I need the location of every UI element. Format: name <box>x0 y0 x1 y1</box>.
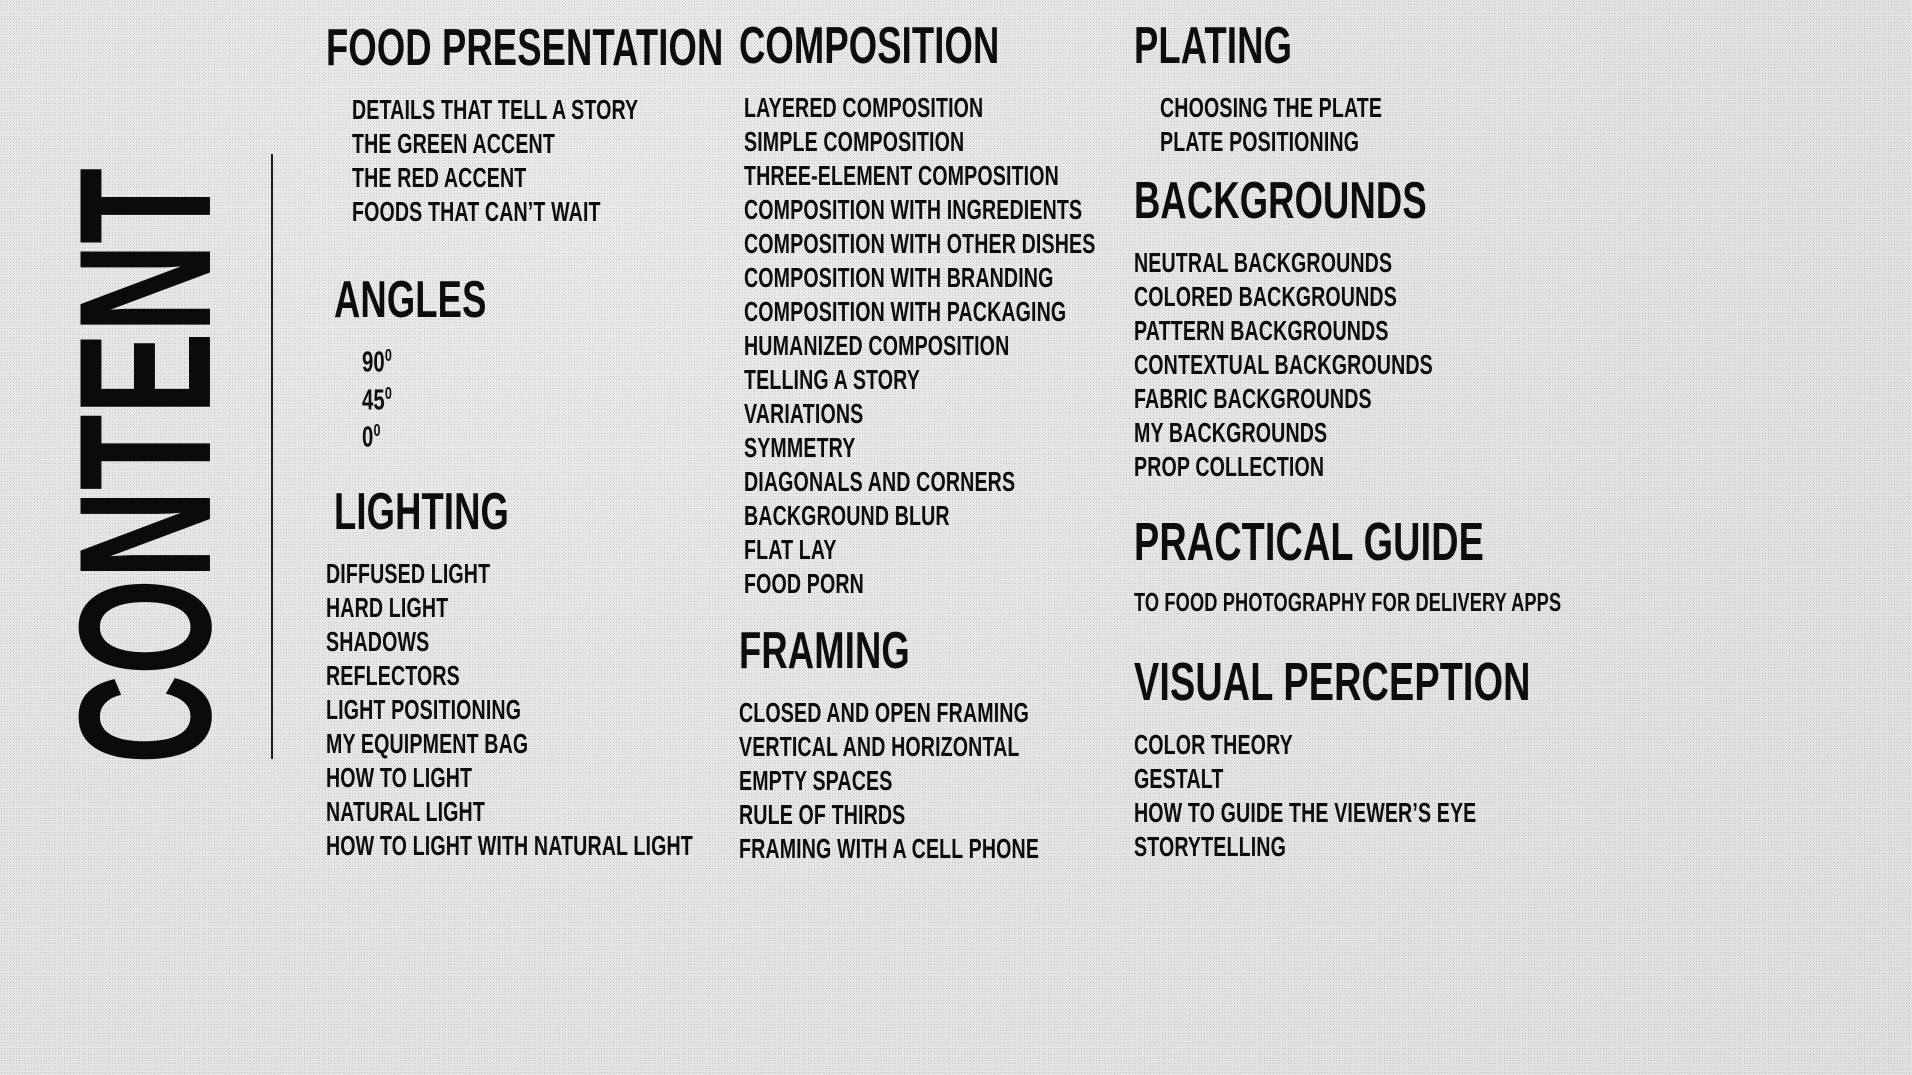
section-item-list: CLOSED AND OPEN FRAMING VERTICAL AND HOR… <box>739 699 1168 863</box>
section-item-list: CHOOSING THE PLATE PLATE POSITIONING <box>1134 94 1477 156</box>
list-item[interactable]: 900 <box>326 346 552 378</box>
section-heading: FRAMING <box>739 625 1168 677</box>
list-item[interactable]: COLOR THEORY <box>1134 731 1701 759</box>
list-item[interactable]: NEUTRAL BACKGROUNDS <box>1134 249 1561 277</box>
section-visual-perception: VISUAL PERCEPTION COLOR THEORY GESTALT H… <box>1134 655 1701 861</box>
list-item[interactable]: FABRIC BACKGROUNDS <box>1134 385 1561 413</box>
list-item[interactable]: CLOSED AND OPEN FRAMING <box>739 699 1168 727</box>
list-item[interactable]: EMPTY SPACES <box>739 767 1168 795</box>
section-item-list: NEUTRAL BACKGROUNDS COLORED BACKGROUNDS … <box>1134 249 1561 481</box>
vertical-divider-rule <box>271 154 273 759</box>
list-item[interactable]: MY BACKGROUNDS <box>1134 419 1561 447</box>
section-subtitle: TO FOOD PHOTOGRAPHY FOR DELIVERY APPS <box>1134 587 1744 618</box>
list-item[interactable]: PLATE POSITIONING <box>1160 128 1477 156</box>
page-title-vertical: CONTENT <box>0 0 300 1075</box>
list-item[interactable]: PROP COLLECTION <box>1134 453 1561 481</box>
section-plating: PLATING CHOOSING THE PLATE PLATE POSITIO… <box>1134 20 1477 156</box>
list-item[interactable]: STORYTELLING <box>1134 833 1701 861</box>
list-item[interactable]: RULE OF THIRDS <box>739 801 1168 829</box>
section-heading: BACKGROUNDS <box>1134 175 1561 227</box>
section-angles: ANGLES 900 450 00 <box>326 274 552 453</box>
list-item[interactable]: COLORED BACKGROUNDS <box>1134 283 1561 311</box>
section-heading: ANGLES <box>326 274 552 326</box>
section-item-list: 900 450 00 <box>326 346 552 453</box>
section-framing: FRAMING CLOSED AND OPEN FRAMING VERTICAL… <box>739 625 1168 863</box>
page-title: CONTENT <box>51 169 239 765</box>
section-heading: VISUAL PERCEPTION <box>1134 655 1701 709</box>
list-item[interactable]: CONTEXTUAL BACKGROUNDS <box>1134 351 1561 379</box>
section-heading: PLATING <box>1134 20 1477 72</box>
list-item[interactable]: 00 <box>326 421 552 453</box>
slide-canvas: CONTENT FOOD PRESENTATION DETAILS THAT T… <box>0 0 1912 1075</box>
section-item-list: COLOR THEORY GESTALT HOW TO GUIDE THE VI… <box>1134 731 1701 861</box>
list-item[interactable]: CHOOSING THE PLATE <box>1160 94 1477 122</box>
section-backgrounds: BACKGROUNDS NEUTRAL BACKGROUNDS COLORED … <box>1134 175 1561 481</box>
list-item[interactable]: GESTALT <box>1134 765 1701 793</box>
section-heading: PRACTICAL GUIDE <box>1134 515 1744 569</box>
list-item[interactable]: HOW TO GUIDE THE VIEWER’S EYE <box>1134 799 1701 827</box>
list-item[interactable]: FRAMING WITH A CELL PHONE <box>739 835 1168 863</box>
list-item[interactable]: VERTICAL AND HORIZONTAL <box>739 733 1168 761</box>
list-item[interactable]: 450 <box>326 384 552 416</box>
list-item[interactable]: PATTERN BACKGROUNDS <box>1134 317 1561 345</box>
section-practical-guide: PRACTICAL GUIDE TO FOOD PHOTOGRAPHY FOR … <box>1134 515 1744 618</box>
